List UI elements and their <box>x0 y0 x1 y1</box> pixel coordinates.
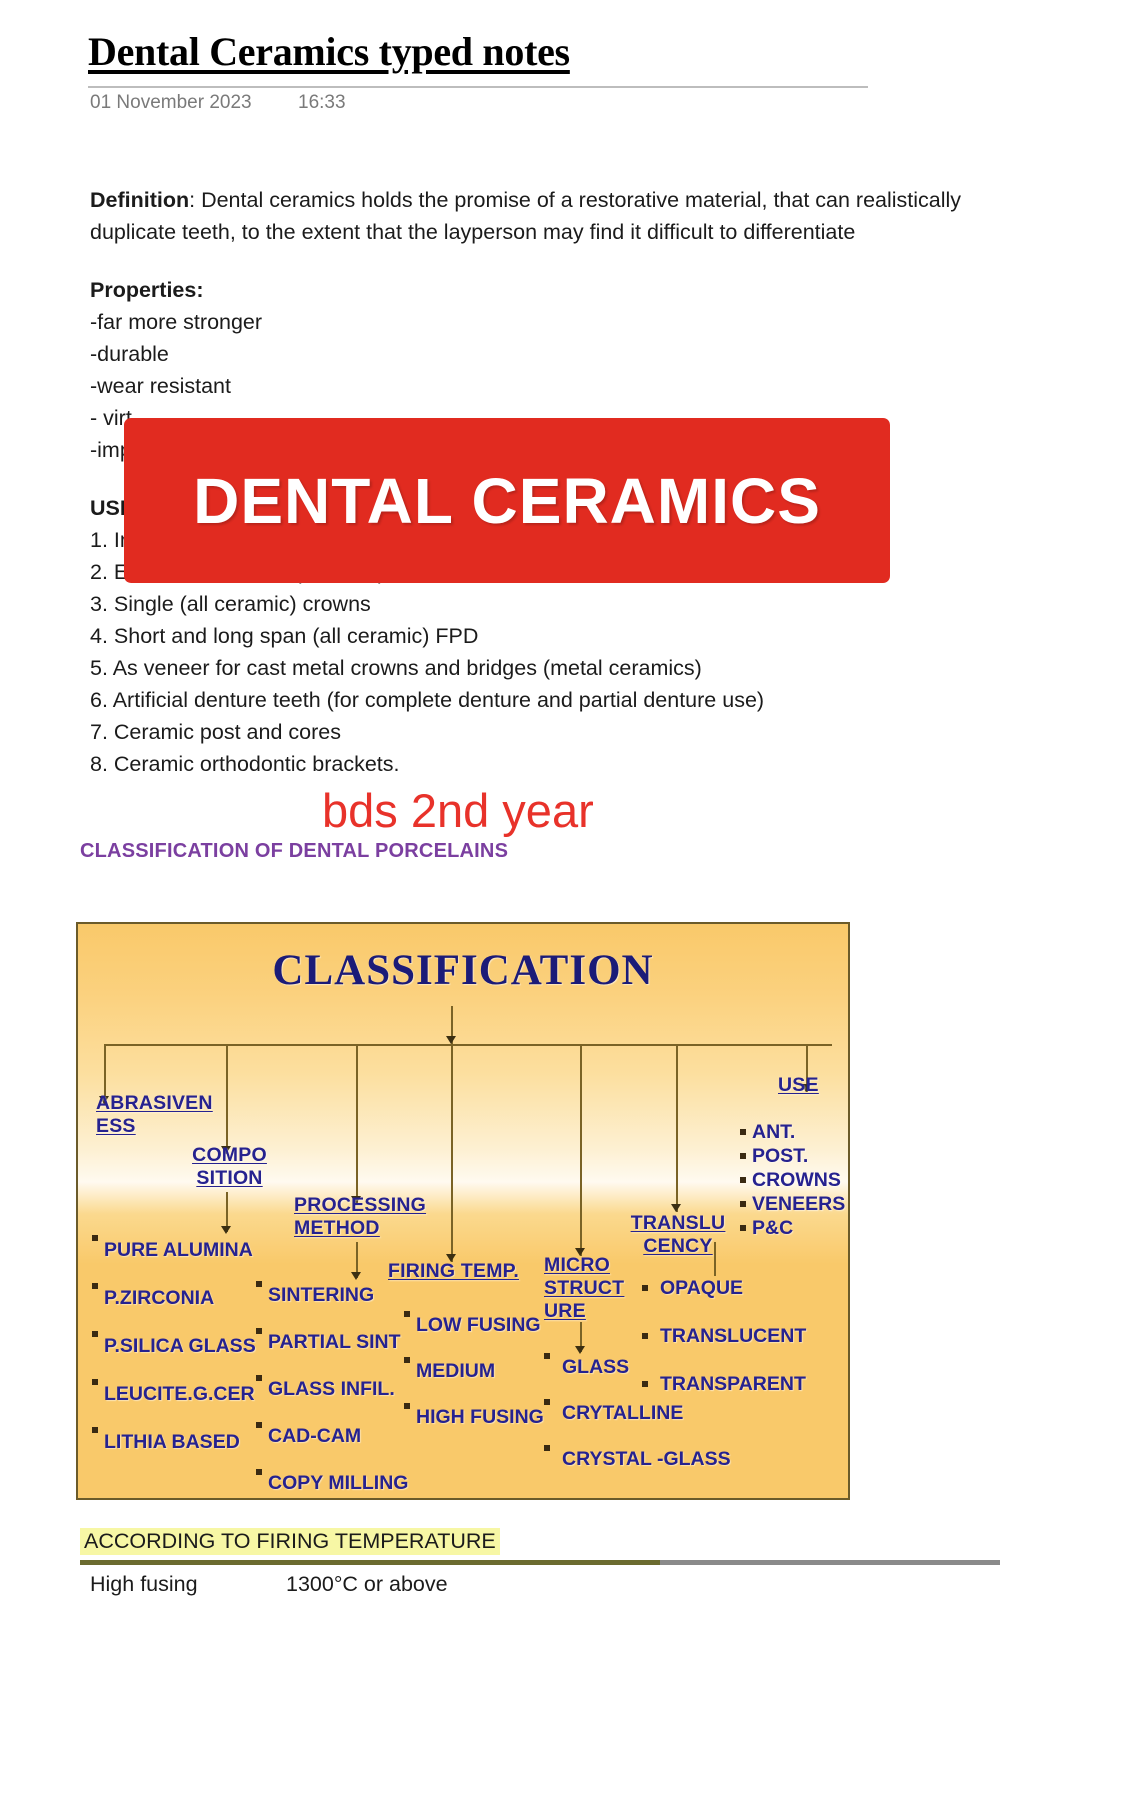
footer-divider-olive <box>80 1560 660 1565</box>
firing-temperature-heading: ACCORDING TO FIRING TEMPERATURE <box>80 1528 500 1555</box>
uses-item: 3. Single (all ceramic) crowns <box>90 588 1010 620</box>
branch-line <box>580 1044 582 1256</box>
list-item: PARTIAL SINT <box>254 1319 408 1366</box>
list-item: TRANSLUCENT <box>638 1324 806 1348</box>
list-item: VENEERS <box>738 1192 845 1216</box>
list-item: CRYSTAL -GLASS <box>540 1436 731 1482</box>
processing-method-items: SINTERING PARTIAL SINT GLASS INFIL. CAD-… <box>254 1272 408 1500</box>
diagram-connector-bus <box>104 1044 832 1046</box>
banner-label: DENTAL CERAMICS <box>193 464 821 538</box>
bds-year-annotation: bds 2nd year <box>322 783 594 838</box>
list-item: OPAQUE <box>638 1276 806 1300</box>
list-item: COPY MILLING <box>254 1460 408 1500</box>
note-page: Dental Ceramics typed notes 01 November … <box>0 0 1146 1794</box>
document-date: 01 November 2023 <box>90 92 252 114</box>
firing-temperature-row: High fusing 1300°C or above <box>90 1572 198 1597</box>
branch-head-composition: COMPO SITION <box>182 1144 277 1190</box>
use-items: ANT. POST. CROWNS VENEERS P&C <box>738 1120 845 1240</box>
list-item: CAD-CAM <box>254 1413 408 1460</box>
list-item: MEDIUM <box>402 1348 544 1394</box>
abrasiveness-items: PURE ALUMINA P.ZIRCONIA P.SILICA GLASS L… <box>90 1226 256 1466</box>
classification-heading: CLASSIFICATION OF DENTAL PORCELAINS <box>80 840 508 863</box>
properties-heading: Properties: <box>90 274 1010 306</box>
list-item: CRYTALLINE <box>540 1390 731 1436</box>
spacer <box>90 248 1010 274</box>
title-divider <box>88 86 868 88</box>
branch-head-abrasiveness: ABRASIVEN ESS <box>96 1092 226 1138</box>
list-item: CROWNS <box>738 1168 845 1192</box>
translucency-items: OPAQUE TRANSLUCENT TRANSPARENT <box>638 1276 806 1396</box>
list-item: TRANSPARENT <box>638 1372 806 1396</box>
branch-line <box>714 1242 716 1276</box>
uses-item: 6. Artificial denture teeth (for complet… <box>90 684 1010 716</box>
uses-item: 4. Short and long span (all ceramic) FPD <box>90 620 1010 652</box>
definition-label: Definition <box>90 188 189 212</box>
page-title: Dental Ceramics typed notes <box>88 28 570 75</box>
diagram-title: CLASSIFICATION <box>78 946 848 995</box>
list-item: LOW FUSING <box>402 1302 544 1348</box>
branch-head-use: USE <box>778 1074 819 1097</box>
uses-item: 5. As veneer for cast metal crowns and b… <box>90 652 1010 684</box>
properties-item: -wear resistant <box>90 370 1010 402</box>
uses-item: 7. Ceramic post and cores <box>90 716 1010 748</box>
document-time: 16:33 <box>298 92 346 114</box>
list-item: LITHIA BASED <box>90 1418 256 1466</box>
list-item: P.SILICA GLASS <box>90 1322 256 1370</box>
properties-item: -durable <box>90 338 1010 370</box>
arrow-head-icon <box>446 1036 456 1044</box>
list-item: HIGH FUSING <box>402 1394 544 1440</box>
list-item: ANT. <box>738 1120 845 1144</box>
definition-text: : Dental ceramics holds the promise of a… <box>90 188 961 244</box>
branch-head-processing-method: PROCESSING METHOD <box>294 1194 439 1240</box>
row-value: 1300°C or above <box>286 1572 448 1597</box>
definition-paragraph: Definition: Dental ceramics holds the pr… <box>90 184 1010 248</box>
branch-line <box>451 1044 453 1262</box>
branch-head-microstructure: MICRO STRUCT URE <box>544 1254 614 1323</box>
list-item: LEUCITE.G.CER <box>90 1370 256 1418</box>
list-item: P.ZIRCONIA <box>90 1274 256 1322</box>
row-label: High fusing <box>90 1572 198 1596</box>
properties-item: -far more stronger <box>90 306 1010 338</box>
branch-line <box>676 1044 678 1212</box>
list-item: PURE ALUMINA <box>90 1226 256 1274</box>
list-item: SINTERING <box>254 1272 408 1319</box>
branch-line <box>356 1044 358 1204</box>
list-item: GLASS INFIL. <box>254 1366 408 1413</box>
dental-ceramics-banner: DENTAL CERAMICS <box>124 418 890 583</box>
classification-diagram: CLASSIFICATION ABRASIVEN ESS COMPO SITIO… <box>76 922 850 1500</box>
branch-line <box>226 1044 228 1154</box>
uses-item: 8. Ceramic orthodontic brackets. <box>90 748 1010 780</box>
firing-temp-items: LOW FUSING MEDIUM HIGH FUSING <box>402 1302 544 1440</box>
list-item: P&C <box>738 1216 845 1240</box>
list-item: POST. <box>738 1144 845 1168</box>
arrow-head-icon <box>671 1204 681 1212</box>
